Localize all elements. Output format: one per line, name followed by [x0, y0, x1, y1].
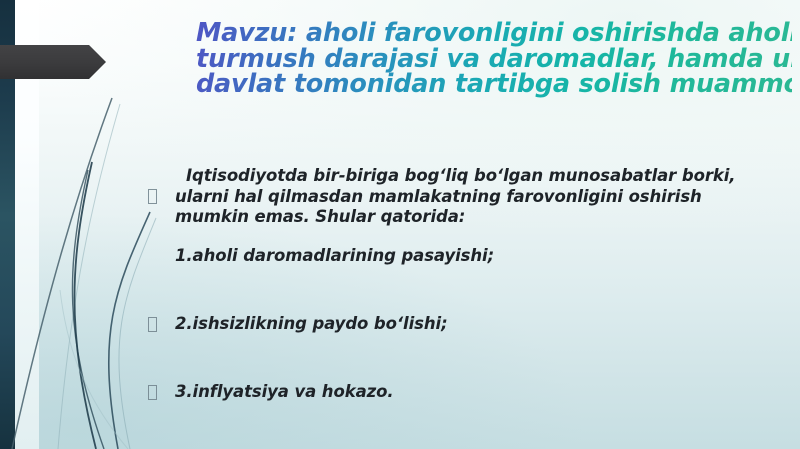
- list-item-label: 3.inflyatsiya va hokazo.: [175, 382, 394, 403]
- list-item: 1.aholi daromadlarining pasayishi;: [148, 246, 494, 267]
- title-line-3: davlat tomonidan tartibga solish muammol…: [196, 72, 792, 98]
- intro-line-2: ularni hal qilmasdan mamlakatning farovo…: [175, 187, 735, 208]
- slide-canvas: Mavzu: aholi farovonligini oshirishda ah…: [0, 0, 800, 449]
- list-item-label: 2.ishsizlikning paydo bo‘lishi;: [175, 314, 448, 335]
- bullet-box-icon: [148, 385, 157, 400]
- slide-body: Iqtisodiyotda bir-biriga bog‘liq bo‘lgan…: [148, 166, 788, 228]
- list-item-label: 1.aholi daromadlarining pasayishi;: [175, 246, 494, 267]
- intro-paragraph-row: Iqtisodiyotda bir-biriga bog‘liq bo‘lgan…: [148, 166, 788, 228]
- bullet-box-icon: [148, 189, 157, 204]
- slide-title: Mavzu: aholi farovonligini oshirishda ah…: [196, 21, 792, 98]
- list-item: 3.inflyatsiya va hokazo.: [148, 382, 394, 403]
- list-item: 2.ishsizlikning paydo bo‘lishi;: [148, 314, 448, 335]
- intro-line-1: Iqtisodiyotda bir-biriga bog‘liq bo‘lgan…: [175, 166, 735, 187]
- title-line-1: Mavzu: aholi farovonligini oshirishda ah…: [196, 21, 792, 47]
- arrow-banner-icon: [0, 45, 106, 79]
- intro-paragraph: Iqtisodiyotda bir-biriga bog‘liq bo‘lgan…: [175, 166, 735, 228]
- bullet-box-icon: [148, 317, 157, 332]
- intro-line-3: mumkin emas. Shular qatorida:: [175, 207, 735, 228]
